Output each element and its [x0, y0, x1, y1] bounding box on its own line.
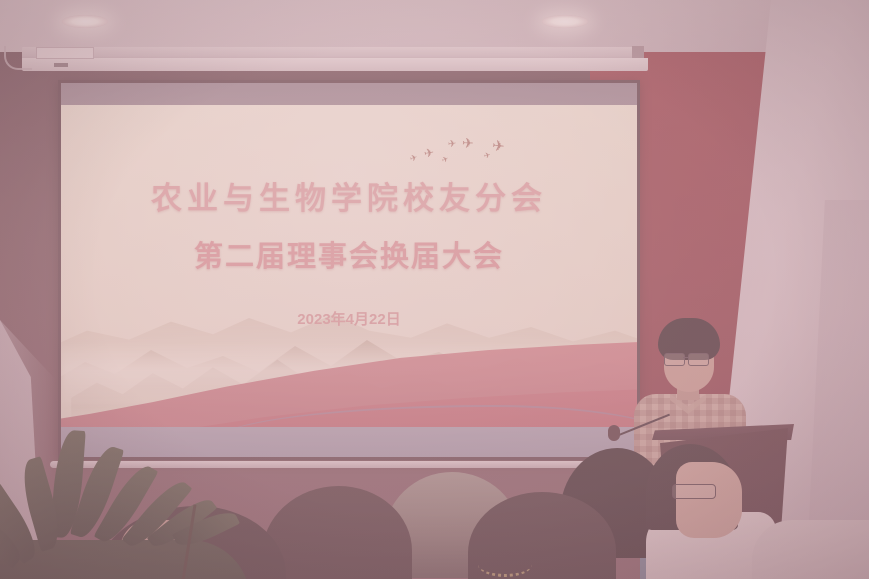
eyeglass-lens-right [688, 353, 709, 366]
roller-control-box [36, 47, 94, 59]
attendee-necklace [478, 552, 532, 577]
projector-screen-roller-shell [22, 58, 648, 71]
bird-icon: ✈ [409, 153, 419, 164]
attendee-face-6 [676, 462, 742, 538]
slide-title-line-1: 农业与生物学院校友分会 [61, 173, 637, 218]
presenter-eyeglasses-icon [664, 353, 714, 364]
ceiling-downlight-left-icon [62, 15, 108, 28]
flying-birds-flock-icon: ✈ ✈ ✈ ✈ ✈ ✈ ✈ [406, 130, 516, 174]
ceiling-downlight-right-icon [542, 15, 588, 28]
bird-icon: ✈ [462, 136, 474, 150]
slide-title-line-2: 第二届理事会换届大会 [61, 233, 637, 275]
bird-icon: ✈ [491, 138, 505, 154]
conference-room-photo: ✈ ✈ ✈ ✈ ✈ ✈ ✈ 农业与生物学院校友分会 第二届理事会换届大会 202… [0, 0, 869, 579]
ceiling [0, 0, 869, 52]
roller-label-icon [54, 63, 68, 67]
projection-screen-top-band [61, 83, 637, 105]
bird-icon: ✈ [448, 140, 457, 151]
presentation-slide: ✈ ✈ ✈ ✈ ✈ ✈ ✈ 农业与生物学院校友分会 第二届理事会换届大会 202… [61, 105, 637, 457]
eyeglass-lens-left [664, 353, 685, 366]
potted-foliage-plant [0, 420, 260, 579]
attendee-eyeglasses-6-icon [672, 484, 716, 499]
microphone-head-icon [608, 425, 620, 441]
roller-mount-bracket [632, 46, 644, 58]
roller-power-cable [4, 46, 32, 70]
bird-icon: ✈ [441, 155, 451, 165]
attendee-shoulder-8 [752, 520, 869, 579]
slide-date: 2023年4月22日 [61, 308, 637, 329]
bird-icon: ✈ [423, 146, 435, 160]
plant-foliage-mass [0, 540, 250, 579]
